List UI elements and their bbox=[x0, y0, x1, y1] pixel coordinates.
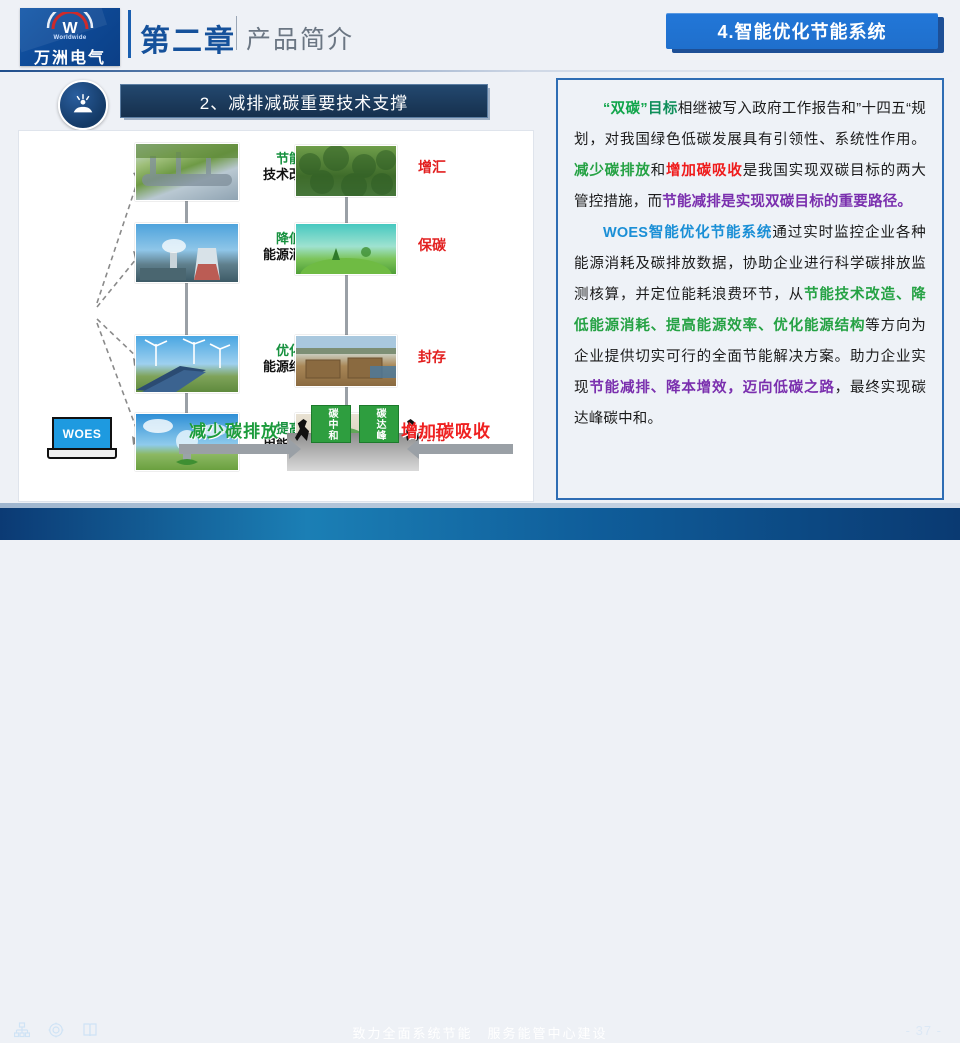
woes-laptop-icon: WOES bbox=[47, 415, 113, 459]
list-item bbox=[135, 223, 239, 283]
puzzle-piece-carbon-peak: 碳达峰 bbox=[359, 405, 399, 443]
w-emblem-icon: W bbox=[44, 12, 96, 36]
header-divider bbox=[128, 10, 131, 58]
logo-name: 万洲电气 bbox=[20, 44, 120, 66]
text-run: 节能减排是实现双碳目标的重要路径。 bbox=[662, 194, 912, 210]
list-item bbox=[295, 145, 397, 197]
reduce-emission-label: 减少碳排放 bbox=[189, 417, 279, 442]
paragraph-2: WOES智能优化节能系统通过实时监控企业各种能源消耗及碳排放数据，协助企业进行科… bbox=[574, 218, 926, 435]
label-line1: 保碳 bbox=[397, 237, 467, 255]
text-run: 目标 bbox=[648, 101, 678, 117]
puzzle-label: 碳中和 bbox=[326, 408, 336, 441]
woes-label: WOES bbox=[52, 417, 112, 451]
list-item bbox=[135, 335, 239, 393]
logo-subtext: Worldwide bbox=[20, 35, 120, 41]
section-title: 2、减排减碳重要技术支撑 bbox=[120, 84, 488, 118]
right-item-label-2: 封存 bbox=[397, 349, 467, 367]
text-run: “双碳” bbox=[603, 101, 648, 117]
chapter-title: 第二章 bbox=[140, 16, 236, 60]
text-run: WOES智能优化节能系统 bbox=[603, 225, 772, 241]
list-item bbox=[295, 223, 397, 275]
text-run: 节能减排、降本增效，迈向低碳之路 bbox=[589, 380, 834, 396]
chapter-separator bbox=[236, 16, 237, 50]
list-item bbox=[135, 143, 239, 201]
increase-absorption-label: 增加碳吸收 bbox=[401, 417, 491, 442]
list-item bbox=[295, 335, 397, 387]
hand-sun-icon bbox=[58, 80, 108, 130]
header-rule bbox=[0, 70, 960, 72]
right-item-label-1: 保碳 bbox=[397, 237, 467, 255]
text-run: 减少碳排放 bbox=[574, 163, 651, 179]
label-line1: 封存 bbox=[397, 349, 467, 367]
topic-badge: 4.智能优化节能系统 bbox=[666, 13, 938, 49]
chapter-subtitle: 产品简介 bbox=[246, 20, 354, 56]
label-line1: 增汇 bbox=[397, 159, 467, 177]
diagram-panel: 节能 技术改造 降低 能源消耗 优化 能源结构 bbox=[18, 130, 534, 502]
laptop-base bbox=[47, 448, 117, 459]
reduce-emission-arrow bbox=[179, 444, 289, 454]
company-logo: W Worldwide 万洲电气 bbox=[20, 8, 120, 66]
right-item-label-0: 增汇 bbox=[397, 159, 467, 177]
svg-text:W: W bbox=[62, 20, 78, 36]
increase-absorption-arrow bbox=[419, 444, 513, 454]
text-run: 和 bbox=[651, 163, 666, 179]
description-panel: “双碳”目标相继被写入政府工作报告和”十四五“规划，对我国绿色低碳发展具有引领性… bbox=[556, 78, 944, 500]
puzzle-label: 碳达峰 bbox=[374, 408, 384, 441]
puzzle-piece-carbon-neutral: 碳中和 bbox=[311, 405, 351, 443]
page-number: - 37 - bbox=[906, 1023, 942, 1038]
footer: 致力全面系统节能 服务能管中心建设 - 37 - bbox=[0, 508, 960, 540]
footer-slogan: 致力全面系统节能 服务能管中心建设 bbox=[0, 1023, 960, 1042]
paragraph-1: “双碳”目标相继被写入政府工作报告和”十四五“规划，对我国绿色低碳发展具有引领性… bbox=[574, 94, 926, 218]
text-run: 增加碳吸收 bbox=[666, 163, 743, 179]
